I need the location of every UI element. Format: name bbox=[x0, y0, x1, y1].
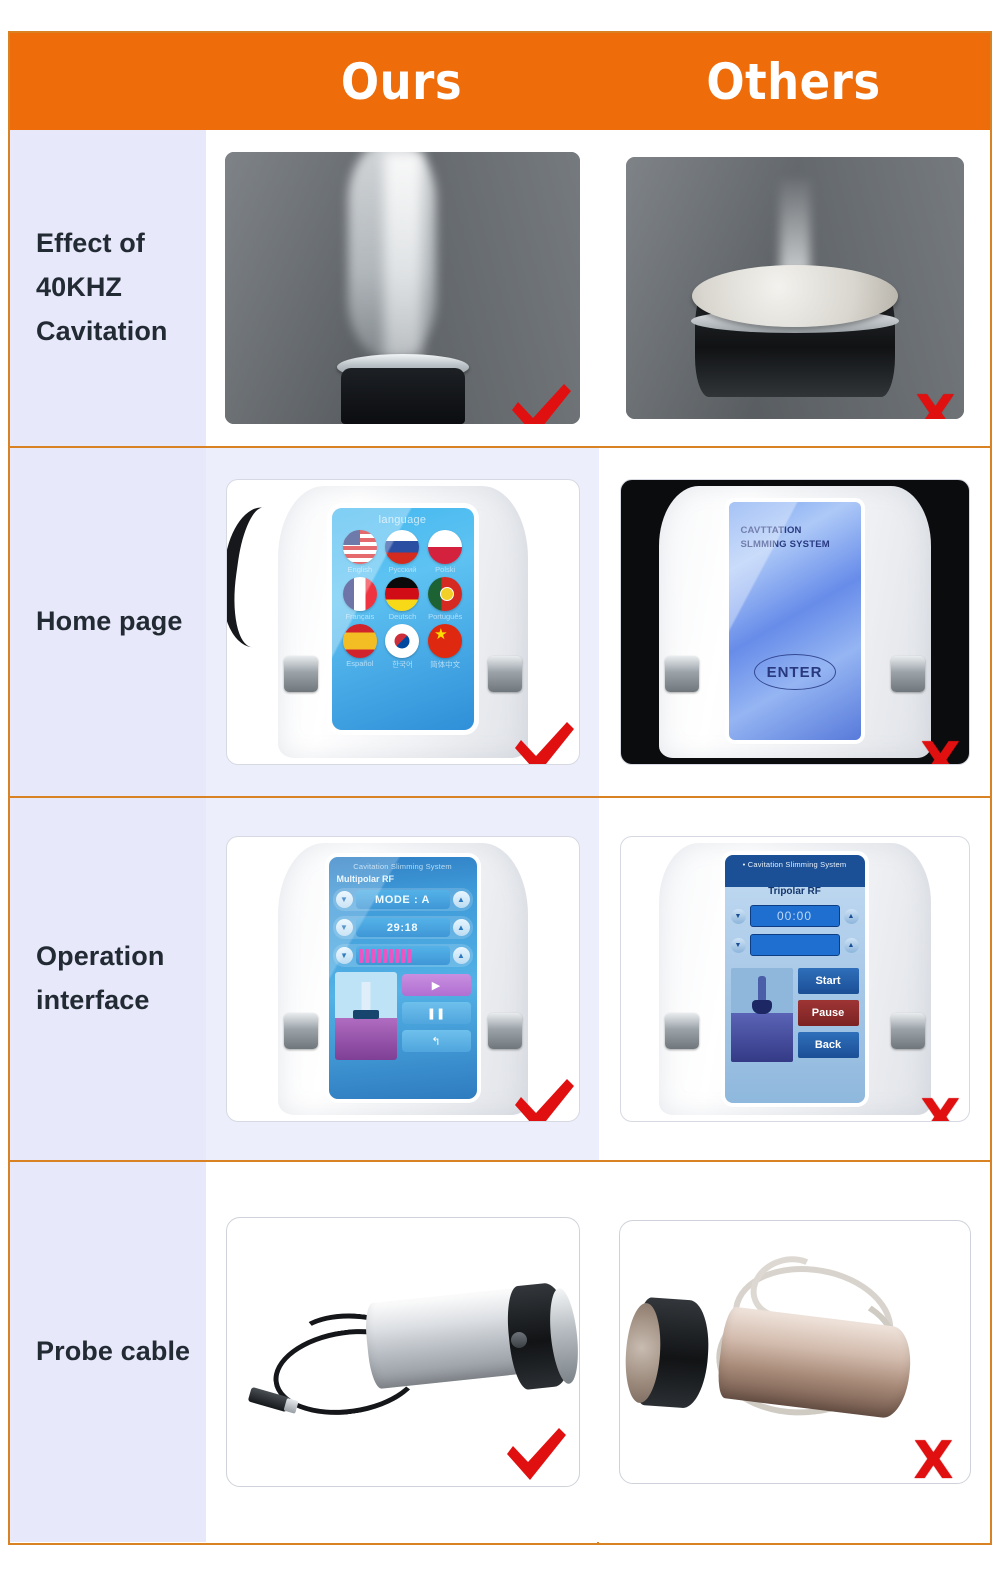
enter-screen[interactable]: CAVTTATION SLMMING SYSTEM ENTER bbox=[729, 502, 861, 740]
language-label: Português bbox=[425, 612, 466, 621]
language-option-polish[interactable]: Polski bbox=[425, 530, 466, 574]
mode-selector-row: ▼ MODE : A ▲ bbox=[333, 888, 473, 911]
probe-head bbox=[341, 368, 465, 424]
operation-screen-header: Cavitation Slimming System bbox=[333, 862, 473, 871]
cell-others-probe-cable: X bbox=[599, 1162, 990, 1542]
language-label: 한국어 bbox=[382, 659, 423, 670]
connector-knob-right bbox=[488, 1013, 522, 1049]
cell-ours-cavitation bbox=[206, 130, 599, 446]
photo-ours-probe-cable bbox=[226, 1217, 580, 1487]
machine-body: language English Русский bbox=[278, 486, 528, 758]
language-label: 简体中文 bbox=[425, 659, 466, 670]
operation-screen[interactable]: Cavitation Slimming System Multipolar RF… bbox=[329, 857, 477, 1099]
row-label-operation-interface: Operation interface bbox=[10, 798, 206, 1160]
photo-ours-home-page: language English Русский bbox=[226, 479, 580, 765]
treatment-illustration bbox=[731, 968, 793, 1062]
back-button[interactable]: Back bbox=[798, 1032, 859, 1058]
photo-others-probe-cable: X bbox=[619, 1220, 971, 1484]
language-screen[interactable]: language English Русский bbox=[332, 508, 474, 730]
operation-screen-header: • Cavitation Slimming System bbox=[725, 855, 865, 874]
language-option-spanish[interactable]: Español bbox=[340, 624, 381, 670]
language-option-english[interactable]: English bbox=[340, 530, 381, 574]
intensity-bars bbox=[356, 946, 450, 965]
row-label-text: Probe cable bbox=[36, 1330, 190, 1374]
table-row: Effect of 40KHZ Cavitation bbox=[10, 130, 990, 448]
language-label: Français bbox=[340, 612, 381, 621]
start-button[interactable]: Start bbox=[798, 968, 859, 994]
poland-flag-icon bbox=[428, 530, 462, 564]
photo-ours-cavitation bbox=[225, 152, 580, 424]
row-label-text: Effect of 40KHZ Cavitation bbox=[36, 222, 168, 353]
intensity-value bbox=[750, 934, 840, 956]
chevron-down-icon[interactable]: ▼ bbox=[336, 891, 353, 908]
cell-others-cavitation: X bbox=[599, 130, 990, 446]
cell-ours-operation: Cavitation Slimming System Multipolar RF… bbox=[206, 798, 599, 1160]
row-label-text: Home page bbox=[36, 600, 182, 644]
treatment-illustration bbox=[335, 972, 397, 1060]
play-button[interactable]: ▶ bbox=[402, 974, 471, 996]
chevron-up-icon[interactable]: ▲ bbox=[844, 909, 859, 924]
pause-button[interactable]: Pause bbox=[798, 1000, 859, 1026]
enter-screen-title: CAVTTATION SLMMING SYSTEM bbox=[741, 524, 851, 553]
intensity-row: ▼ ▲ bbox=[731, 934, 859, 956]
timer-value: 00:00 bbox=[750, 905, 840, 927]
chevron-down-icon[interactable]: ▼ bbox=[731, 909, 746, 924]
cross-mark-icon: X bbox=[913, 1435, 953, 1484]
photo-others-cavitation: X bbox=[626, 157, 964, 419]
check-mark-icon bbox=[503, 1426, 569, 1482]
row-label-line: interface bbox=[36, 979, 164, 1023]
row-label-home-page: Home page bbox=[10, 448, 206, 796]
language-option-french[interactable]: Français bbox=[340, 577, 381, 621]
connector-knob-left bbox=[284, 656, 318, 692]
chevron-up-icon[interactable]: ▲ bbox=[453, 919, 470, 936]
chevron-down-icon[interactable]: ▼ bbox=[731, 938, 746, 953]
cell-ours-home-page: language English Русский bbox=[206, 448, 599, 796]
cell-others-operation: • Cavitation Slimming System Tripolar RF… bbox=[599, 798, 990, 1160]
language-label: Polski bbox=[425, 565, 466, 574]
header-ours-label: Ours bbox=[341, 53, 462, 111]
language-grid: English Русский Polski bbox=[336, 530, 470, 670]
operation-screen[interactable]: • Cavitation Slimming System Tripolar RF… bbox=[725, 855, 865, 1103]
language-label: English bbox=[340, 565, 381, 574]
language-label: Русский bbox=[382, 565, 423, 574]
timer-row: ▼ 00:00 ▲ bbox=[731, 905, 859, 927]
table-row: Operation interface Cavitation Slimming … bbox=[10, 798, 990, 1162]
comparison-table: Ours Others Effect of 40KHZ Cavitation bbox=[8, 31, 992, 1545]
connector-knob-left bbox=[284, 1013, 318, 1049]
chevron-up-icon[interactable]: ▲ bbox=[844, 938, 859, 953]
row-label-probe-cable: Probe cable bbox=[10, 1162, 206, 1542]
row-label-line: Effect of bbox=[36, 222, 168, 266]
timer-row: ▼ 29:18 ▲ bbox=[333, 916, 473, 939]
portugal-flag-icon bbox=[428, 577, 462, 611]
south-korea-flag-icon bbox=[385, 624, 419, 658]
connector-knob-right bbox=[891, 1013, 925, 1049]
operation-screen-body: Tripolar RF ▼ 00:00 ▲ ▼ ▲ bbox=[725, 874, 865, 968]
russia-flag-icon bbox=[385, 530, 419, 564]
germany-flag-icon bbox=[385, 577, 419, 611]
table-header-row: Ours Others bbox=[10, 33, 990, 130]
china-flag-icon bbox=[428, 624, 462, 658]
language-label: Español bbox=[340, 659, 381, 668]
header-cell-ours: Ours bbox=[206, 53, 597, 111]
connector-knob-left bbox=[665, 656, 699, 692]
machine-body: Cavitation Slimming System Multipolar RF… bbox=[278, 843, 528, 1115]
united-states-flag-icon bbox=[343, 530, 377, 564]
mist-core bbox=[384, 152, 422, 359]
chevron-down-icon[interactable]: ▼ bbox=[336, 947, 353, 964]
operation-buttons: Start Pause Back bbox=[798, 968, 859, 1062]
pause-button[interactable]: ❚❚ bbox=[402, 1002, 471, 1024]
spain-flag-icon bbox=[343, 624, 377, 658]
row-label-line: Cavitation bbox=[36, 310, 168, 354]
table-row: Home page language English bbox=[10, 448, 990, 798]
probe-wet-surface bbox=[692, 265, 898, 327]
cell-others-home-page: CAVTTATION SLMMING SYSTEM ENTER X bbox=[599, 448, 990, 796]
connector-knob-right bbox=[891, 656, 925, 692]
header-cell-others: Others bbox=[597, 53, 990, 111]
connector-knob-right bbox=[488, 656, 522, 692]
photo-others-operation: • Cavitation Slimming System Tripolar RF… bbox=[620, 836, 970, 1122]
probe-button bbox=[511, 1332, 527, 1348]
machine-body: CAVTTATION SLMMING SYSTEM ENTER bbox=[659, 486, 931, 758]
row-label-line: Operation bbox=[36, 935, 164, 979]
intensity-row: ▼ ▲ bbox=[333, 944, 473, 967]
row-label-text: Operation interface bbox=[36, 935, 164, 1022]
chevron-up-icon[interactable]: ▲ bbox=[453, 891, 470, 908]
operation-mode-title: Tripolar RF bbox=[731, 886, 859, 897]
comparison-page: Ours Others Effect of 40KHZ Cavitation bbox=[0, 0, 1000, 1577]
language-option-russian[interactable]: Русский bbox=[382, 530, 423, 574]
mode-value: MODE : A bbox=[356, 890, 450, 909]
operation-bottom: ▶ ❚❚ ↰ bbox=[333, 972, 473, 1060]
chevron-up-icon[interactable]: ▲ bbox=[453, 947, 470, 964]
language-option-korean[interactable]: 한국어 bbox=[382, 624, 423, 670]
operation-bottom: Start Pause Back bbox=[725, 968, 865, 1066]
back-button[interactable]: ↰ bbox=[402, 1030, 471, 1052]
language-option-german[interactable]: Deutsch bbox=[382, 577, 423, 621]
cell-ours-probe-cable bbox=[206, 1162, 599, 1542]
operation-buttons: ▶ ❚❚ ↰ bbox=[402, 972, 471, 1060]
timer-value: 29:18 bbox=[356, 918, 450, 937]
language-option-chinese[interactable]: 简体中文 bbox=[425, 624, 466, 670]
row-label-line: 40KHZ bbox=[36, 266, 168, 310]
language-option-portuguese[interactable]: Português bbox=[425, 577, 466, 621]
chevron-down-icon[interactable]: ▼ bbox=[336, 919, 353, 936]
language-screen-title: language bbox=[336, 514, 470, 526]
operation-mode-title: Multipolar RF bbox=[337, 874, 473, 884]
france-flag-icon bbox=[343, 577, 377, 611]
header-others-label: Others bbox=[706, 53, 880, 111]
table-row: Probe cable bbox=[10, 1162, 990, 1542]
connector-knob-left bbox=[665, 1013, 699, 1049]
language-label: Deutsch bbox=[382, 612, 423, 621]
photo-others-home-page: CAVTTATION SLMMING SYSTEM ENTER X bbox=[620, 479, 970, 765]
machine-body: • Cavitation Slimming System Tripolar RF… bbox=[659, 843, 931, 1115]
photo-ours-operation: Cavitation Slimming System Multipolar RF… bbox=[226, 836, 580, 1122]
row-label-cavitation: Effect of 40KHZ Cavitation bbox=[10, 130, 206, 446]
enter-button[interactable]: ENTER bbox=[754, 654, 836, 690]
